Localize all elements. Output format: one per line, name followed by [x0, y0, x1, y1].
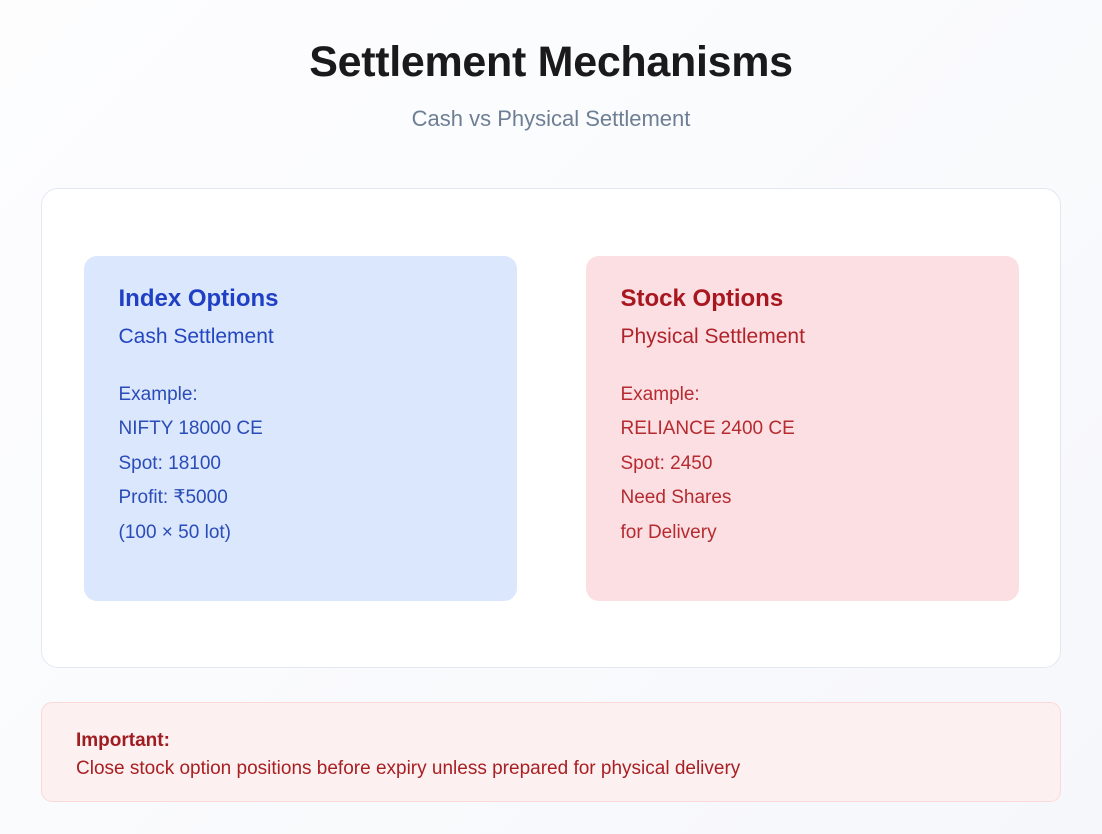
stock-options-card: Stock Options Physical Settlement Exampl… — [586, 256, 1019, 601]
important-note-text: Close stock option positions before expi… — [76, 755, 1060, 783]
index-options-detail-line: Example: — [119, 378, 517, 413]
stock-options-detail-line: Need Shares — [621, 481, 1019, 516]
page-subtitle: Cash vs Physical Settlement — [0, 106, 1102, 132]
index-options-card-subtitle: Cash Settlement — [119, 324, 517, 349]
index-options-card-details: Example: NIFTY 18000 CE Spot: 18100 Prof… — [119, 378, 517, 551]
stock-options-card-subtitle: Physical Settlement — [621, 324, 1019, 349]
settlement-mechanisms-page: Settlement Mechanisms Cash vs Physical S… — [0, 0, 1102, 834]
stock-options-detail-line: RELIANCE 2400 CE — [621, 412, 1019, 447]
stock-options-detail-line: for Delivery — [621, 516, 1019, 551]
stock-options-card-title: Stock Options — [621, 285, 1019, 314]
index-options-detail-line: Profit: ₹5000 — [119, 481, 517, 516]
page-title: Settlement Mechanisms — [0, 38, 1102, 87]
settlement-cards-row: Index Options Cash Settlement Example: N… — [42, 189, 1060, 601]
settlement-comparison-panel: Index Options Cash Settlement Example: N… — [41, 188, 1061, 668]
stock-options-card-details: Example: RELIANCE 2400 CE Spot: 2450 Nee… — [621, 378, 1019, 551]
important-note-label: Important: — [76, 727, 1060, 755]
page-header: Settlement Mechanisms Cash vs Physical S… — [0, 0, 1102, 133]
index-options-card: Index Options Cash Settlement Example: N… — [84, 256, 517, 601]
important-note-box: Important: Close stock option positions … — [41, 702, 1061, 802]
stock-options-detail-line: Example: — [621, 378, 1019, 413]
stock-options-detail-line: Spot: 2450 — [621, 447, 1019, 482]
index-options-detail-line: NIFTY 18000 CE — [119, 412, 517, 447]
index-options-card-title: Index Options — [119, 285, 517, 314]
index-options-detail-line: Spot: 18100 — [119, 447, 517, 482]
index-options-detail-line: (100 × 50 lot) — [119, 516, 517, 551]
